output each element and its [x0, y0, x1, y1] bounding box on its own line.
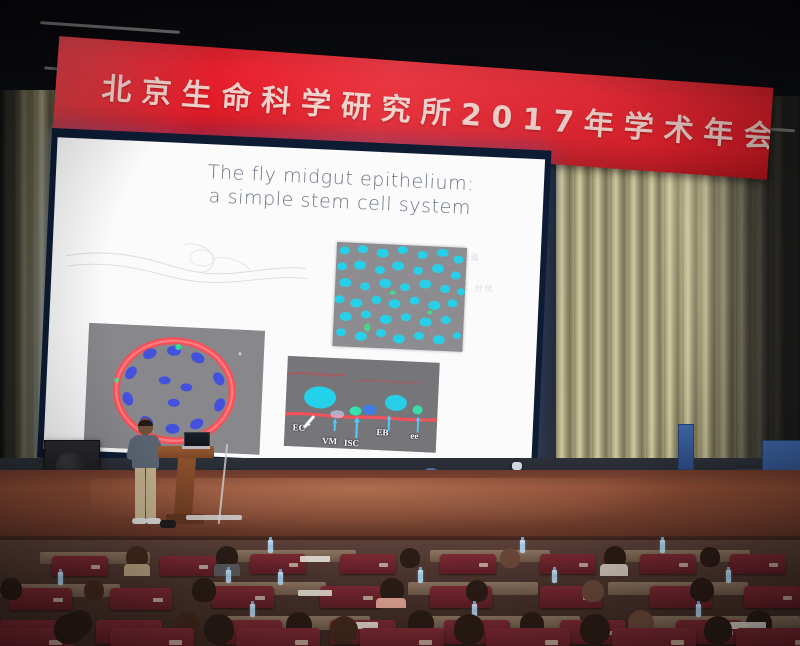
seat-row-3: [0, 568, 800, 600]
audience-head: [500, 548, 520, 568]
cell-label-isc: ISC: [344, 438, 359, 449]
podium: [158, 432, 214, 528]
cell-label-vm: VM: [322, 436, 337, 447]
water-bottle: [58, 572, 63, 585]
conference-photo: 北京生命科学研究所2017年学术年会 The fly midgut epithe…: [0, 0, 800, 646]
blue-tower-light: [678, 424, 694, 470]
seat[interactable]: [360, 628, 444, 646]
water-bottle: [268, 540, 273, 553]
projection-screen-frame: The fly midgut epithelium: a simple stem…: [37, 128, 551, 480]
presenter-leg-right: [146, 468, 156, 520]
seat-row-2: [0, 598, 800, 630]
seat[interactable]: [612, 628, 696, 646]
projection-screen: The fly midgut epithelium: a simple stem…: [43, 137, 545, 471]
audience-head: [204, 614, 234, 644]
labeled-epithelium-micrograph: EC VM ISC EB ee: [284, 356, 440, 453]
stage-light-4: [512, 462, 522, 470]
audience-seating-area: [0, 540, 800, 646]
water-bottle: [660, 540, 665, 553]
water-bottle: [696, 604, 701, 617]
seat[interactable]: [110, 628, 194, 646]
audience-head: [454, 614, 484, 644]
cell-label-ec: EC: [292, 422, 305, 433]
seat[interactable]: [486, 628, 570, 646]
curtain-shadow-left: [0, 90, 30, 490]
nuclei-field-micrograph: [332, 242, 467, 352]
water-bottle: [278, 572, 283, 585]
audience-head: [704, 616, 732, 644]
water-bottle: [520, 540, 525, 553]
slide-title: The fly midgut epithelium: a simple stem…: [175, 159, 507, 222]
audience-head: [330, 616, 358, 644]
presenter-laptop-base: [182, 446, 210, 449]
presenter-shoe-left: [132, 518, 147, 524]
water-bottle: [552, 570, 557, 583]
gut-line-drawing-icon: [60, 222, 313, 313]
audience-head: [84, 580, 104, 600]
audience-head: [580, 614, 610, 644]
audience-head: [400, 548, 420, 568]
seat[interactable]: [736, 628, 800, 646]
presenter-hair: [138, 420, 153, 426]
water-bottle: [418, 570, 423, 583]
presenter-leg-left: [135, 468, 145, 520]
audience-head: [700, 547, 720, 567]
paper: [300, 556, 330, 562]
cell-label-eb: EB: [376, 427, 388, 438]
cell-label-ee: ee: [410, 431, 418, 441]
podium-column: [174, 458, 196, 516]
water-bottle: [726, 570, 731, 583]
paper: [298, 590, 332, 596]
seat-row-1: [0, 628, 800, 646]
water-bottle: [250, 604, 255, 617]
audience-head: [54, 614, 84, 644]
floor-monitor-small: [160, 520, 176, 528]
water-bottle: [226, 570, 231, 583]
seat[interactable]: [236, 628, 320, 646]
audience-head: [0, 578, 22, 600]
floor-cable: [186, 515, 242, 520]
